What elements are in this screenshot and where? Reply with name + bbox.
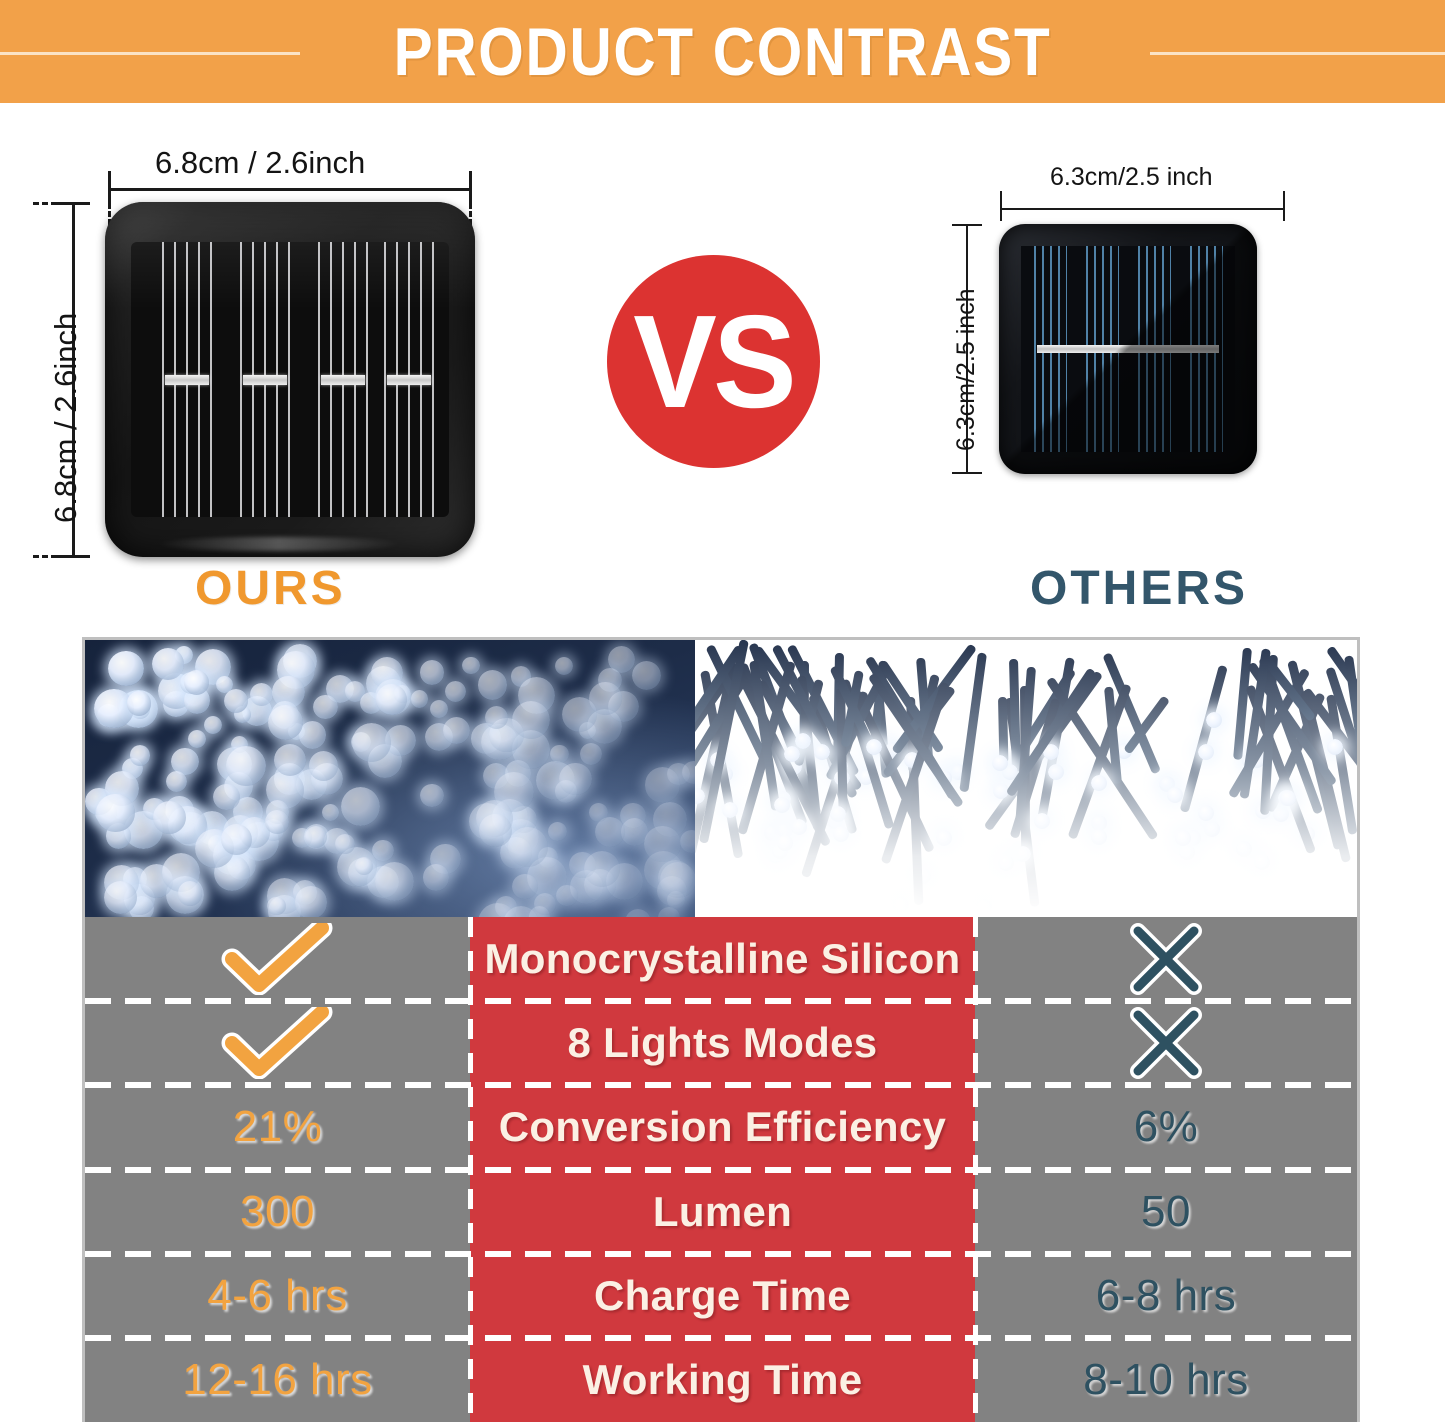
others-value-cell <box>975 1001 1357 1085</box>
ours-cell-strip <box>379 242 439 517</box>
led-bulb <box>250 683 273 706</box>
led-strand <box>959 652 987 792</box>
ours-solar-panel-image <box>105 202 475 557</box>
others-height-tick-bottom <box>952 472 982 474</box>
row-divider <box>85 1335 1357 1341</box>
led-tip <box>791 819 807 835</box>
led-tip <box>998 855 1014 871</box>
feature-label: 8 Lights Modes <box>568 1019 878 1067</box>
product-panels-section: 6.8cm / 2.6inch 6.8cm / 2.6inch VS 6.3cm… <box>0 103 1445 628</box>
vs-label: VS <box>634 296 794 428</box>
led-bulb <box>108 651 144 687</box>
led-bulb <box>548 822 567 841</box>
led-bulb <box>178 881 203 906</box>
led-tip <box>795 733 811 749</box>
others-value: 50 <box>1141 1187 1191 1237</box>
ours-height-label: 6.8cm / 2.6inch <box>48 313 84 523</box>
led-tip <box>1091 775 1107 791</box>
led-bulb <box>221 824 252 855</box>
led-tip <box>1254 854 1270 870</box>
others-width-label: 6.3cm/2.5 inch <box>1050 163 1213 192</box>
led-bulb <box>420 660 445 685</box>
row-divider <box>85 998 1357 1004</box>
led-tip <box>830 806 846 822</box>
led-bulb <box>184 670 209 695</box>
table-row: 8 Lights Modes <box>85 1001 1357 1085</box>
others-solar-panel-image <box>999 224 1257 474</box>
led-bulb <box>341 787 380 826</box>
led-bulb <box>352 723 391 762</box>
page-title: PRODUCT CONTRAST <box>101 0 1344 103</box>
ours-width-tick-right <box>469 171 472 205</box>
led-bulb <box>512 701 550 739</box>
led-tip <box>774 797 790 813</box>
table-row: 4-6 hrsCharge Time6-8 hrs <box>85 1254 1357 1338</box>
led-tip <box>814 744 830 760</box>
led-bulb <box>204 716 222 734</box>
led-tip <box>1206 712 1222 728</box>
ours-cell-strip <box>157 242 217 517</box>
table-row: 21%Conversion Efficiency6% <box>85 1085 1357 1169</box>
ours-height-ext-bottom <box>33 555 75 558</box>
led-tip <box>1204 821 1220 837</box>
others-value-cell: 6% <box>975 1085 1357 1169</box>
cross-icon <box>1128 923 1204 995</box>
others-width-tick-left <box>1000 191 1002 221</box>
feature-label: Monocrystalline Silicon <box>485 935 961 983</box>
led-bulb <box>580 743 602 765</box>
led-bulb <box>512 874 537 899</box>
led-bulb <box>660 862 695 898</box>
vs-badge: VS <box>607 255 820 468</box>
led-bulb <box>420 784 444 808</box>
ours-value: 4-6 hrs <box>207 1271 347 1321</box>
check-icon <box>218 1007 338 1079</box>
row-divider <box>85 1082 1357 1088</box>
led-bulb <box>534 893 556 915</box>
product-photo-strip <box>85 640 1357 917</box>
others-value-cell <box>975 917 1357 1001</box>
feature-label: Conversion Efficiency <box>499 1103 946 1151</box>
feature-name-cell: 8 Lights Modes <box>470 1001 975 1085</box>
led-strand <box>1180 664 1228 812</box>
led-tip <box>1198 744 1214 760</box>
ours-value-cell: 300 <box>85 1170 470 1254</box>
others-product-photo <box>695 640 1357 917</box>
led-tip <box>936 830 952 846</box>
led-bulb <box>479 814 512 847</box>
feature-name-cell: Monocrystalline Silicon <box>470 917 975 1001</box>
led-tip <box>992 755 1008 771</box>
led-tip <box>1179 844 1195 860</box>
led-bulb <box>589 682 621 714</box>
feature-label: Lumen <box>653 1188 792 1236</box>
others-height-tick-top <box>952 224 982 226</box>
others-busbar <box>1037 345 1219 353</box>
led-bulb <box>559 763 591 795</box>
led-bulb <box>658 907 680 917</box>
others-value: 6-8 hrs <box>1096 1271 1236 1321</box>
led-bulb <box>550 745 568 763</box>
led-tip <box>866 739 882 755</box>
led-tip <box>1034 813 1050 829</box>
ours-width-label: 6.8cm / 2.6inch <box>155 145 365 181</box>
others-value-cell: 50 <box>975 1170 1357 1254</box>
led-bulb <box>632 661 661 690</box>
header-banner: PRODUCT CONTRAST <box>0 0 1445 103</box>
led-bulb <box>443 717 470 744</box>
ours-width-tick-left <box>108 171 111 205</box>
led-bulb <box>127 691 152 716</box>
table-row: 12-16 hrsWorking Time8-10 hrs <box>85 1338 1357 1422</box>
ours-width-line <box>108 188 472 191</box>
led-tip <box>1167 787 1183 803</box>
ours-busbar <box>243 375 287 385</box>
ours-cell-field <box>131 242 449 517</box>
led-tip <box>833 826 849 842</box>
led-bulb <box>152 648 184 680</box>
others-value-cell: 6-8 hrs <box>975 1254 1357 1338</box>
led-bulb <box>267 897 285 915</box>
others-height-label: 6.3cm/2.5 inch <box>952 288 981 451</box>
led-tip <box>1198 805 1214 821</box>
feature-name-cell: Lumen <box>470 1170 975 1254</box>
led-bulb <box>188 730 206 748</box>
others-brand-label: OTHERS <box>1030 561 1248 616</box>
ours-busbar <box>387 375 431 385</box>
others-cell-field <box>1021 246 1235 452</box>
feature-label: Working Time <box>583 1356 863 1404</box>
ours-value-cell: 21% <box>85 1085 470 1169</box>
led-tip <box>777 835 793 851</box>
led-tip <box>1175 830 1191 846</box>
others-value: 6% <box>1134 1102 1199 1152</box>
ours-busbar <box>321 375 365 385</box>
ours-cell-strip <box>235 242 295 517</box>
led-bulb <box>322 804 339 821</box>
led-bulb <box>423 864 449 890</box>
led-tip <box>1273 806 1289 822</box>
ours-value-cell: 12-16 hrs <box>85 1338 470 1422</box>
row-divider <box>85 1251 1357 1257</box>
check-icon <box>218 923 338 995</box>
led-bulb <box>445 681 466 702</box>
led-tip <box>1015 846 1031 862</box>
led-bulb <box>644 826 680 862</box>
led-tip <box>1236 841 1252 857</box>
others-value: 8-10 hrs <box>1083 1355 1248 1405</box>
led-bulb <box>430 700 448 718</box>
ours-height-ext-top <box>33 202 75 205</box>
led-bulb <box>375 862 414 901</box>
ours-value: 12-16 hrs <box>182 1355 372 1405</box>
others-value-cell: 8-10 hrs <box>975 1338 1357 1422</box>
ours-value-cell <box>85 1001 470 1085</box>
ours-brand-label: OURS <box>195 561 346 616</box>
led-tip <box>1327 739 1343 755</box>
led-bulb <box>645 767 681 803</box>
led-bulb <box>411 690 429 708</box>
ours-product-photo <box>85 640 695 917</box>
ours-cell-strip <box>313 242 373 517</box>
feature-label: Charge Time <box>594 1272 851 1320</box>
led-bulb <box>372 840 394 862</box>
feature-name-cell: Charge Time <box>470 1254 975 1338</box>
feature-name-cell: Conversion Efficiency <box>470 1085 975 1169</box>
led-bulb <box>130 745 150 765</box>
led-bulb <box>268 705 303 740</box>
row-divider <box>85 1167 1357 1173</box>
led-tip <box>1048 764 1064 780</box>
led-tip <box>1091 829 1107 845</box>
led-tip <box>976 899 992 915</box>
led-bulb <box>213 784 240 811</box>
led-strand <box>1009 659 1021 772</box>
led-bulb <box>309 751 338 780</box>
table-row: 300Lumen50 <box>85 1170 1357 1254</box>
ours-value: 21% <box>233 1102 323 1152</box>
led-tip <box>722 802 738 818</box>
ours-panel-gloss-bottom <box>157 537 401 551</box>
cross-icon <box>1128 1007 1204 1079</box>
others-width-tick-right <box>1283 191 1285 221</box>
ours-value: 300 <box>240 1187 315 1237</box>
comparison-table: Monocrystalline Silicon8 Lights Modes21%… <box>85 917 1357 1422</box>
ours-value-cell: 4-6 hrs <box>85 1254 470 1338</box>
comparison-block: Monocrystalline Silicon8 Lights Modes21%… <box>85 640 1357 1422</box>
led-bulb <box>295 886 328 917</box>
ours-busbar <box>165 375 209 385</box>
led-tip <box>893 897 909 913</box>
feature-name-cell: Working Time <box>470 1338 975 1422</box>
led-bulb <box>313 695 338 720</box>
ours-value-cell <box>85 917 470 1001</box>
others-width-line <box>1000 208 1285 210</box>
table-row: Monocrystalline Silicon <box>85 917 1357 1001</box>
led-strand <box>998 697 1008 763</box>
led-bulb <box>96 794 135 833</box>
led-bulb <box>478 670 508 700</box>
